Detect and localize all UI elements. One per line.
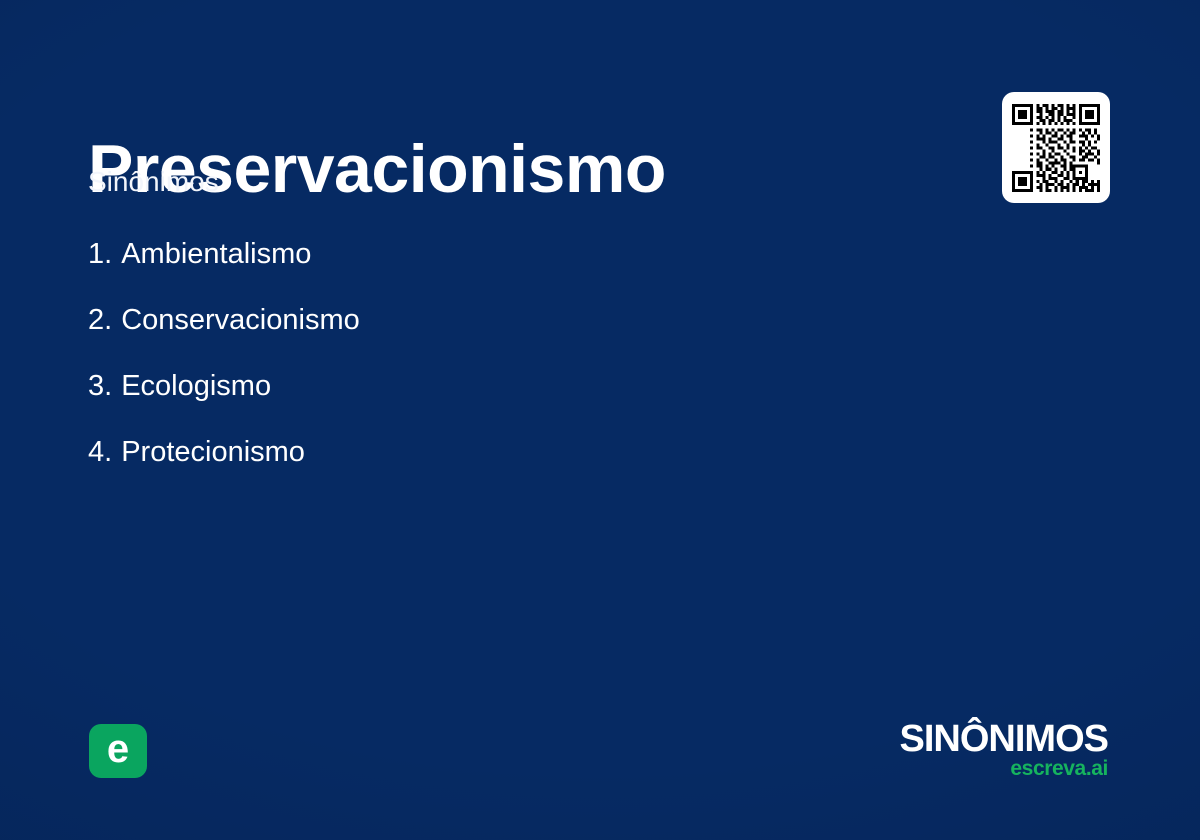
page-subtitle: Sinônimos (88, 168, 219, 196)
qr-code-icon (1012, 104, 1100, 192)
list-item-index: 2. (88, 304, 112, 337)
brand-lockup[interactable]: SINÔNIMOS escreva.ai (900, 722, 1108, 779)
list-item: 3. Ecologismo (88, 370, 848, 436)
list-item: 1. Ambientalismo (88, 238, 848, 304)
brand-domain: escreva.ai (900, 758, 1108, 779)
synonym-card: Preservacionismo Sinônimos 1. Ambientali… (0, 0, 1200, 840)
list-item-label: Protecionismo (121, 436, 305, 469)
list-item-index: 1. (88, 238, 112, 271)
escreva-logo-letter: e (107, 729, 129, 769)
list-item-label: Ambientalismo (121, 238, 311, 271)
list-item-label: Ecologismo (121, 370, 271, 403)
synonym-list: 1. Ambientalismo 2. Conservacionismo 3. … (88, 238, 848, 502)
list-item-index: 3. (88, 370, 112, 403)
list-item-index: 4. (88, 436, 112, 469)
escreva-logo-badge[interactable]: e (89, 724, 147, 778)
list-item: 4. Protecionismo (88, 436, 848, 502)
list-item-label: Conservacionismo (121, 304, 360, 337)
qr-code-panel[interactable] (1002, 92, 1110, 203)
list-item: 2. Conservacionismo (88, 304, 848, 370)
brand-name: SINÔNIMOS (900, 722, 1108, 757)
